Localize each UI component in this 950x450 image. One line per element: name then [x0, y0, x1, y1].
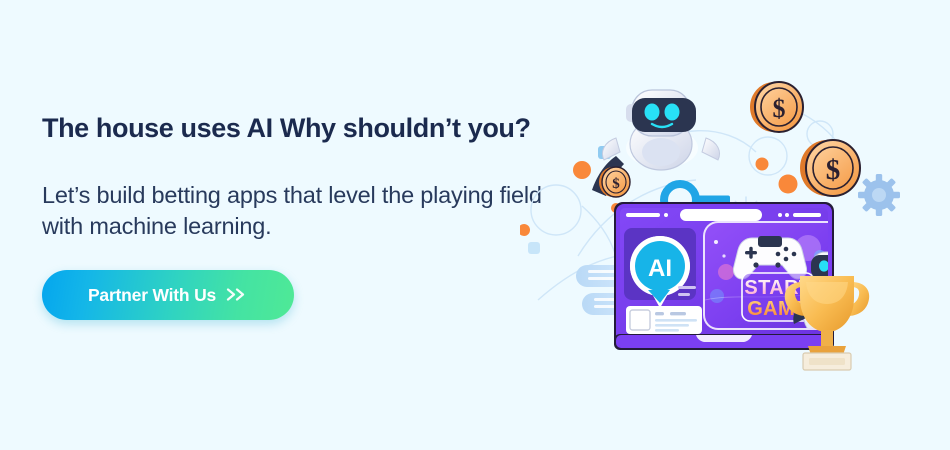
ai-gaming-illustration: $ $	[520, 60, 950, 380]
ai-badge: AI	[624, 228, 696, 308]
svg-text:$: $	[612, 176, 620, 192]
svg-text:$: $	[773, 94, 786, 123]
cta-label: Partner With Us	[88, 285, 216, 306]
double-chevron-right-icon	[226, 286, 248, 305]
page-title: The house uses AI Why shouldn’t you?	[42, 112, 562, 144]
partner-with-us-button[interactable]: Partner With Us	[42, 270, 294, 320]
file-card	[626, 306, 702, 334]
copy-block: The house uses AI Why shouldn’t you? Let…	[42, 112, 562, 144]
coin-large-right: $	[800, 140, 860, 196]
gear-icon	[858, 174, 900, 216]
svg-text:$: $	[826, 154, 841, 186]
coin-small: $	[599, 167, 630, 197]
promo-banner: The house uses AI Why shouldn’t you? Let…	[0, 0, 950, 450]
coin-large-left: $	[750, 82, 803, 132]
subheading: Let’s build betting apps that level the …	[42, 180, 542, 242]
svg-text:AI: AI	[648, 255, 672, 282]
